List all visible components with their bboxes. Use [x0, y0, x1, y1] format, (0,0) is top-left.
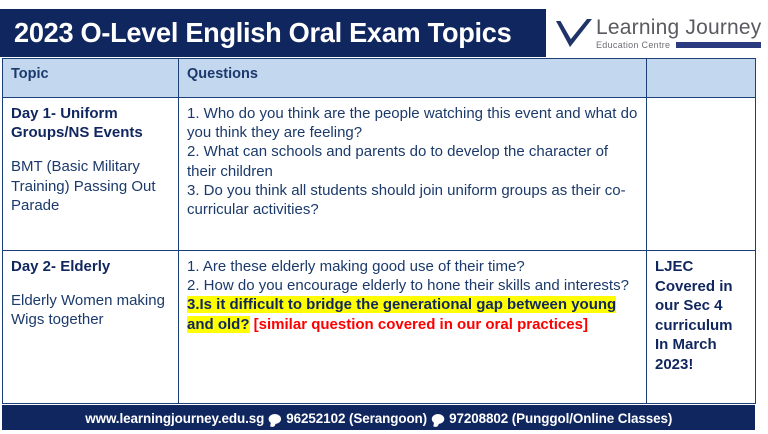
topic-cell-day1: Day 1- Uniform Groups/NS Events BMT (Bas… — [3, 98, 179, 251]
title-row: 2023 O-Level English Oral Exam Topics Le… — [0, 9, 768, 57]
question-item: 1. Who do you think are the people watch… — [187, 104, 638, 142]
footer-phone-punggol[interactable]: 97208802 (Punggol/Online Classes) — [449, 410, 672, 426]
logo-subtitle-row: Education Centre — [596, 41, 761, 50]
extra-cell-day2: LJEC Covered in our Sec 4 curriculum In … — [647, 251, 756, 404]
footer-bar: www.learningjourney.edu.sg96252102 (Sera… — [2, 405, 755, 430]
footer-contact-line: www.learningjourney.edu.sg96252102 (Sera… — [85, 410, 672, 426]
topic-body: BMT (Basic Military Training) Passing Ou… — [11, 157, 170, 215]
footer-website[interactable]: www.learningjourney.edu.sg — [85, 410, 264, 426]
topic-body: Elderly Women making Wigs together — [11, 291, 170, 329]
brand-logo: Learning Journey Education Centre — [546, 9, 768, 57]
table-head: Topic Questions — [3, 59, 756, 98]
coverage-note: LJEC Covered in our Sec 4 curriculum In … — [655, 257, 747, 374]
table-body: Day 1- Uniform Groups/NS Events BMT (Bas… — [3, 98, 756, 404]
extra-cell-day1 — [647, 98, 756, 251]
poster-root: 2023 O-Level English Oral Exam Topics Le… — [0, 0, 768, 434]
questions-cell-day2: 1. Are these elderly making good use of … — [179, 251, 647, 404]
question-item: 2. How do you encourage elderly to hone … — [187, 276, 638, 295]
topic-heading: Day 1- Uniform Groups/NS Events — [11, 104, 170, 142]
question-item: 3. Do you think all students should join… — [187, 181, 638, 219]
table-row: Day 1- Uniform Groups/NS Events BMT (Bas… — [3, 98, 756, 251]
question-note: [similar question covered in our oral pr… — [254, 316, 588, 333]
column-header-extra — [647, 59, 756, 98]
title-bar: 2023 O-Level English Oral Exam Topics — [0, 9, 546, 57]
column-header-questions: Questions — [179, 59, 647, 98]
column-header-topic: Topic — [3, 59, 179, 98]
logo-name: Learning Journey — [596, 17, 761, 38]
logo-wordmark: Learning Journey Education Centre — [596, 17, 761, 50]
footer-phone-serangoon[interactable]: 96252102 (Serangoon) — [286, 410, 427, 426]
checkmark-v-icon — [554, 16, 594, 52]
chat-bubble-icon — [269, 414, 281, 424]
table-header-row: Topic Questions — [3, 59, 756, 98]
page-title: 2023 O-Level English Oral Exam Topics — [14, 19, 511, 47]
logo-subtitle: Education Centre — [596, 41, 670, 50]
question-item-highlighted-wrapper: 3.Is it difficult to bridge the generati… — [187, 295, 638, 333]
chat-bubble-icon — [432, 414, 444, 424]
table-row: Day 2- Elderly Elderly Women making Wigs… — [3, 251, 756, 404]
question-item: 2. What can schools and parents do to de… — [187, 142, 638, 180]
topic-cell-day2: Day 2- Elderly Elderly Women making Wigs… — [3, 251, 179, 404]
topics-table: Topic Questions Day 1- Uniform Groups/NS… — [2, 58, 756, 404]
topic-heading: Day 2- Elderly — [11, 257, 170, 276]
logo-accent-bar — [676, 42, 761, 48]
questions-cell-day1: 1. Who do you think are the people watch… — [179, 98, 647, 251]
question-item: 1. Are these elderly making good use of … — [187, 257, 638, 276]
